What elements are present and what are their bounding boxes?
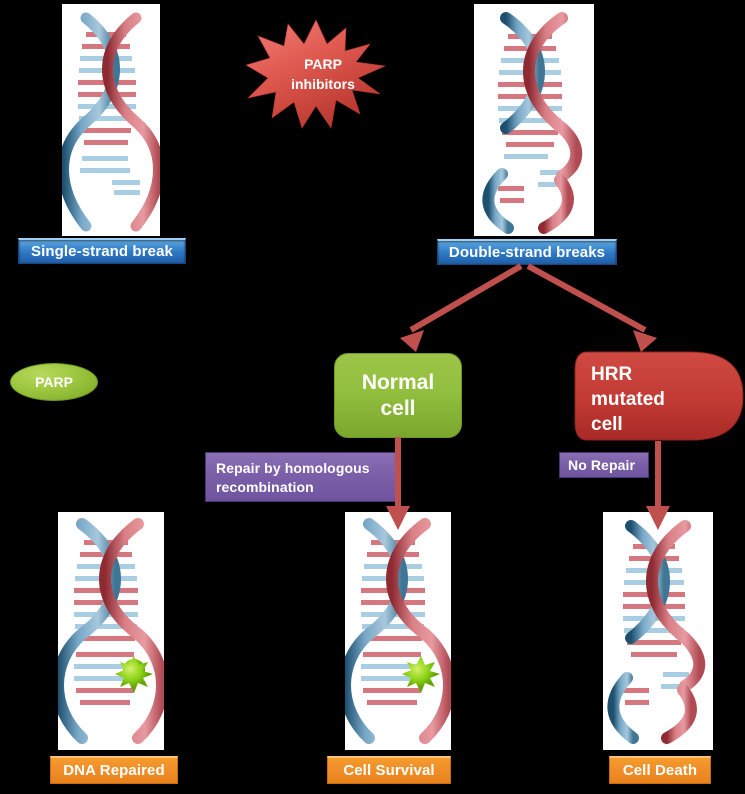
repair-hr-line-2: recombination: [216, 478, 314, 497]
cell-survival-banner[interactable]: Cell Survival: [327, 756, 451, 784]
cell-death-label: Cell Death: [623, 762, 697, 779]
dsb-to-normal-cell-arrow: [400, 266, 521, 352]
hrr-mutated-cell-node[interactable]: HRR mutated cell: [573, 350, 745, 442]
parp-inhibitors-burst-text: PARP inhibitors: [246, 18, 386, 130]
double-strand-breaks-banner[interactable]: Double-strand breaks: [437, 239, 617, 265]
diagram-canvas: Single-strand break PARP inhibitors: [0, 0, 745, 794]
normal-cell-line-2: cell: [380, 396, 415, 422]
single-strand-break-banner[interactable]: Single-strand break: [18, 238, 186, 264]
burst-line-2: inhibitors: [291, 74, 355, 94]
hrr-mutated-cell-text: HRR mutated cell: [591, 362, 687, 437]
single-strand-break-label: Single-strand break: [31, 243, 173, 260]
normal-cell-node[interactable]: Normal cell: [334, 353, 462, 438]
parp-oval[interactable]: PARP: [10, 363, 98, 401]
burst-line-1: PARP: [304, 54, 342, 74]
normal-cell-line-1: Normal: [362, 370, 434, 396]
dsb-to-hrr-cell-arrow: [528, 266, 657, 352]
mutation-marker-icon: [402, 656, 440, 693]
double-strand-breaks-label: Double-strand breaks: [449, 244, 605, 261]
repair-by-hr-label-box[interactable]: Repair by homologous recombination: [205, 452, 397, 502]
cell-death-banner[interactable]: Cell Death: [609, 756, 711, 784]
mutation-marker-icon: [115, 656, 153, 693]
cell-survival-label: Cell Survival: [343, 762, 434, 779]
dsb-dna-panel: [474, 4, 594, 236]
no-repair-label: No Repair: [568, 456, 635, 475]
hrr-line-1: HRR: [591, 362, 687, 387]
cell-death-panel: [603, 512, 713, 750]
parp-oval-label: PARP: [35, 374, 73, 390]
cell-survival-panel: [345, 512, 451, 750]
repair-hr-line-1: Repair by homologous: [216, 459, 370, 478]
dna-repaired-panel: [58, 512, 164, 750]
hrr-line-3: cell: [591, 412, 687, 437]
hrr-line-2: mutated: [591, 387, 687, 412]
parp-inhibitors-burst[interactable]: PARP inhibitors: [246, 18, 386, 130]
dna-repaired-label: DNA Repaired: [63, 762, 165, 779]
no-repair-label-box[interactable]: No Repair: [559, 452, 649, 478]
dna-repaired-banner[interactable]: DNA Repaired: [50, 756, 178, 784]
ssb-dna-panel: [62, 4, 160, 236]
